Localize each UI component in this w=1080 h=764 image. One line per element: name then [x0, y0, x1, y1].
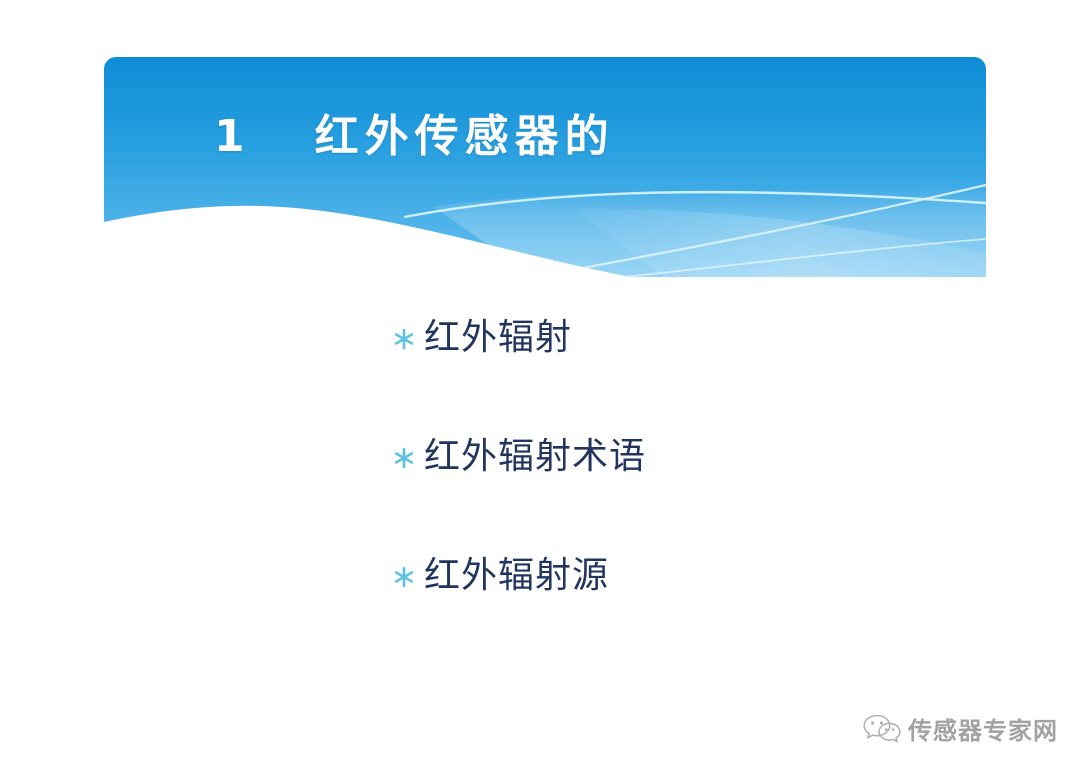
asterisk-icon	[392, 326, 416, 352]
watermark-label: 传感器专家网	[908, 711, 1058, 746]
list-item[interactable]: 红外辐射术语	[392, 422, 952, 492]
asterisk-icon	[392, 445, 416, 471]
slide-header-banner: 1 红外传感器的	[104, 57, 986, 277]
slide-canvas: 1 红外传感器的 红外辐射 红外辐射术语	[0, 0, 1080, 764]
wechat-icon	[862, 712, 902, 746]
asterisk-icon	[392, 564, 416, 590]
list-item-label: 红外辐射源	[424, 556, 609, 596]
list-item[interactable]: 红外辐射	[392, 303, 952, 373]
banner-wave-graphic	[104, 57, 986, 277]
list-item[interactable]: 红外辐射源	[392, 541, 952, 611]
list-item-label: 红外辐射	[424, 318, 572, 358]
bullet-list: 红外辐射 红外辐射术语 红外辐射源	[392, 303, 952, 611]
list-item-label: 红外辐射术语	[424, 437, 646, 477]
watermark: 传感器专家网	[862, 711, 1058, 746]
